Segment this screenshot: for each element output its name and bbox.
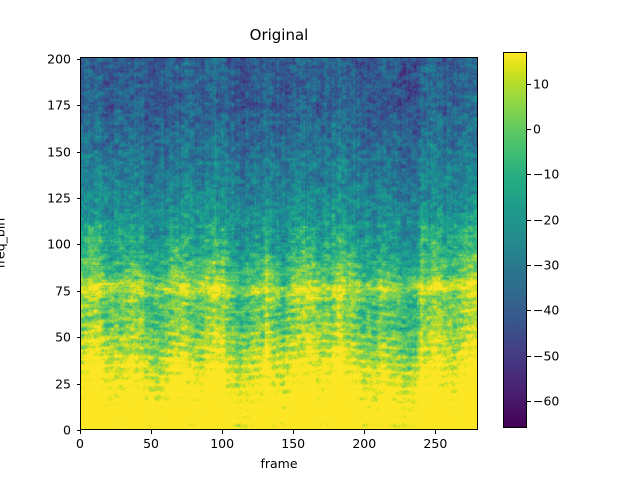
colorbar-tick <box>527 356 531 357</box>
y-tick-label: 25 <box>55 376 71 391</box>
x-tick-label: 100 <box>210 436 234 451</box>
colorbar-tick-label: 10 <box>533 76 549 91</box>
colorbar-tick <box>527 129 531 130</box>
colorbar-tick-label: −50 <box>533 348 559 363</box>
colorbar-tick-label: 0 <box>533 122 541 137</box>
y-tick-label: 150 <box>47 144 71 159</box>
y-tick-label: 0 <box>63 423 71 438</box>
x-axis-label: frame <box>80 456 478 471</box>
y-tick-label: 200 <box>47 51 71 66</box>
colorbar-tick <box>527 174 531 175</box>
y-tick <box>77 198 81 199</box>
x-tick <box>435 430 436 434</box>
y-tick-label: 100 <box>47 237 71 252</box>
colorbar-tick-label: −60 <box>533 393 559 408</box>
colorbar-tick <box>527 220 531 221</box>
colorbar-tick-label: −20 <box>533 212 559 227</box>
y-tick <box>77 384 81 385</box>
colorbar <box>503 52 527 428</box>
colorbar-tick <box>527 310 531 311</box>
x-tick <box>80 430 81 434</box>
plot-title: Original <box>80 26 478 44</box>
y-tick <box>77 152 81 153</box>
colorbar-tick-label: −30 <box>533 257 559 272</box>
y-tick <box>77 337 81 338</box>
x-tick-label: 0 <box>76 436 84 451</box>
y-tick <box>77 105 81 106</box>
y-tick <box>77 59 81 60</box>
matplotlib-figure: Original 050100150200250 025507510012515… <box>0 0 640 480</box>
y-tick <box>77 430 81 431</box>
x-tick-label: 200 <box>352 436 376 451</box>
x-tick-label: 150 <box>281 436 305 451</box>
y-axis-label: freq_bin <box>0 218 8 268</box>
x-tick <box>364 430 365 434</box>
colorbar-tick <box>527 84 531 85</box>
y-tick <box>77 244 81 245</box>
x-tick-label: 50 <box>143 436 159 451</box>
y-tick-label: 75 <box>55 283 71 298</box>
y-tick-label: 125 <box>47 191 71 206</box>
x-tick <box>151 430 152 434</box>
colorbar-tick-label: −40 <box>533 303 559 318</box>
x-tick <box>293 430 294 434</box>
spectrogram-image <box>81 58 477 429</box>
y-tick-label: 50 <box>55 330 71 345</box>
y-tick-label: 175 <box>47 98 71 113</box>
colorbar-tick-label: −10 <box>533 167 559 182</box>
colorbar-tick <box>527 401 531 402</box>
spectrogram-axes <box>80 57 478 430</box>
y-tick <box>77 291 81 292</box>
x-tick-label: 250 <box>423 436 447 451</box>
colorbar-tick <box>527 265 531 266</box>
x-tick <box>222 430 223 434</box>
